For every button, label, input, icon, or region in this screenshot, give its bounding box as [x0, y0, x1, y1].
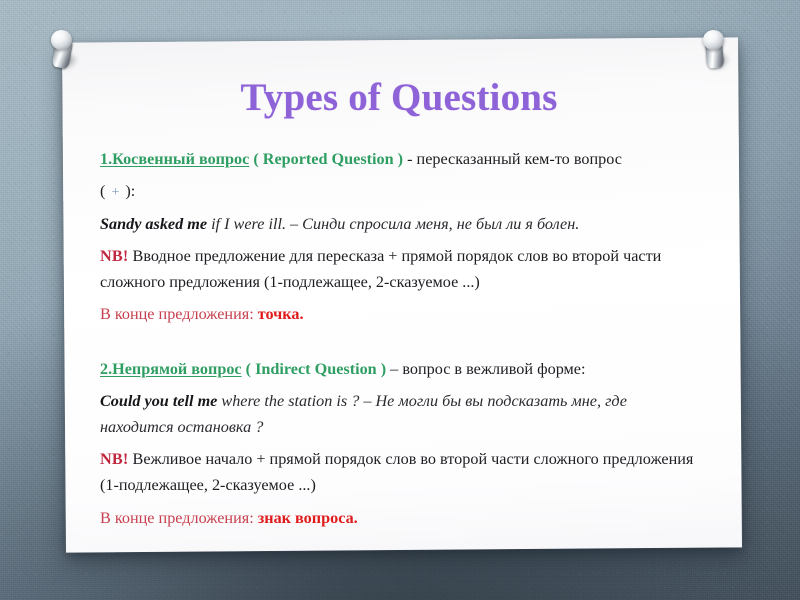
- section-2-heading-separator: –: [386, 360, 402, 378]
- section-2-example-bold: Could you tell me: [100, 392, 217, 410]
- section-1-example-bold: Sandy asked me: [100, 215, 207, 233]
- section-2-heading-label: 2.Непрямой вопрос: [100, 360, 242, 378]
- section-1-note-text: Вводное предложение для пересказа + прям…: [100, 247, 661, 291]
- section-2-note: NB! Вежливое начало + прямой порядок сло…: [100, 446, 700, 498]
- page-title: Types of Questions: [90, 76, 708, 120]
- paper-sheet: Types of Questions 1.Косвенный вопрос ( …: [62, 37, 742, 552]
- section-indirect-question: 2.Непрямой вопрос ( Indirect Question ) …: [100, 356, 700, 531]
- slide-body: 1.Косвенный вопрос ( Reported Question )…: [90, 146, 708, 531]
- plus-sign-icon: +: [109, 185, 121, 200]
- section-1-example-italic: if I were ill. – Синди спросила меня, не…: [207, 215, 579, 233]
- section-1-ending: В конце предложения: точка.: [100, 301, 700, 327]
- pin-right-head: [703, 30, 724, 50]
- section-2-example: Could you tell me where the station is ?…: [100, 388, 700, 440]
- section-divider-space: [100, 334, 700, 356]
- slide-board: Types of Questions 1.Косвенный вопрос ( …: [0, 0, 800, 600]
- section-2-ending-value: знак вопроса.: [258, 509, 358, 527]
- section-1-marker-line: ( + ):: [100, 178, 700, 205]
- section-1-nb-marker: NB!: [100, 247, 128, 265]
- section-1-ending-prefix: В конце предложения:: [100, 305, 258, 323]
- section-2-heading-english: ( Indirect Question ): [246, 360, 386, 378]
- section-2-heading: 2.Непрямой вопрос ( Indirect Question ) …: [100, 356, 700, 382]
- section-1-heading-english: ( Reported Question ): [253, 150, 403, 168]
- section-1-heading-separator: -: [403, 150, 416, 168]
- section-1-heading-label: 1.Косвенный вопрос: [100, 150, 249, 168]
- marker-close-paren: ):: [121, 182, 135, 200]
- section-reported-question: 1.Косвенный вопрос ( Reported Question )…: [100, 146, 700, 328]
- section-2-heading-description: вопрос в вежливой форме:: [402, 360, 585, 378]
- section-1-ending-value: точка.: [258, 305, 304, 323]
- section-1-example: Sandy asked me if I were ill. – Синди сп…: [100, 211, 700, 237]
- section-2-ending-prefix: В конце предложения:: [100, 509, 258, 527]
- section-1-note: NB! Вводное предложение для пересказа + …: [100, 243, 700, 295]
- push-pin-right-icon: [700, 24, 730, 80]
- section-1-heading-description: пересказанный кем-то вопрос: [417, 150, 622, 168]
- pin-left-head: [51, 30, 72, 50]
- paper-content-area: Types of Questions 1.Косвенный вопрос ( …: [62, 40, 738, 550]
- section-1-heading: 1.Косвенный вопрос ( Reported Question )…: [100, 146, 700, 172]
- section-2-nb-marker: NB!: [100, 450, 128, 468]
- push-pin-left-icon: [48, 24, 78, 80]
- section-2-note-text: Вежливое начало + прямой порядок слов во…: [100, 450, 693, 494]
- section-2-ending: В конце предложения: знак вопроса.: [100, 505, 700, 531]
